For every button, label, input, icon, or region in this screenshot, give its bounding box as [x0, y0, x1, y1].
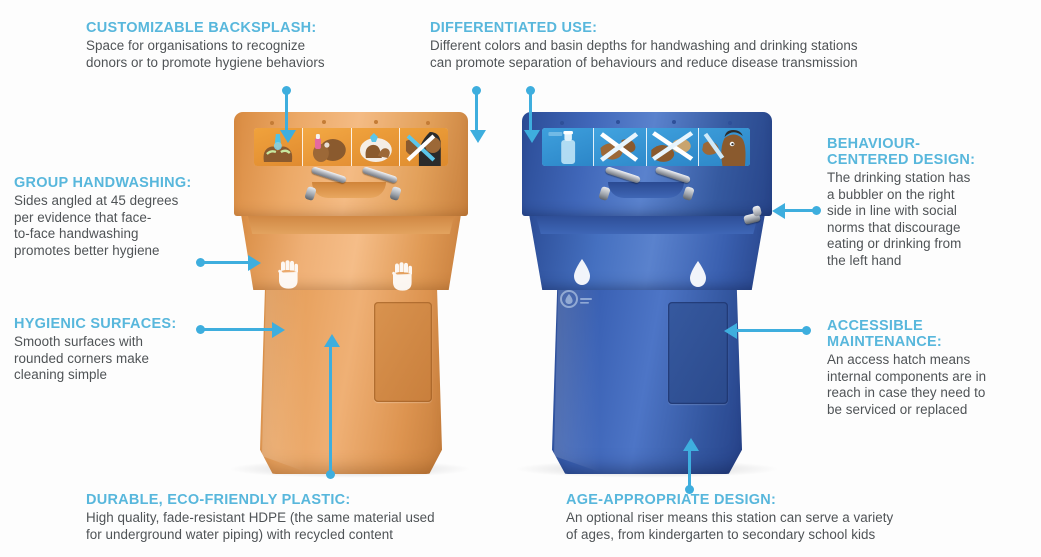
callout-title: GROUP HANDWASHING:	[14, 175, 214, 192]
callout-title: DURABLE, ECO-FRIENDLY PLASTIC:	[86, 492, 536, 509]
callout-hygienic-surfaces: HYGIENIC SURFACES: Smooth surfaces with …	[14, 316, 214, 384]
callout-title: BEHAVIOUR-	[827, 136, 1027, 153]
connector-differentiated-use-orange	[470, 86, 484, 148]
customizable-backsplash[interactable]	[542, 128, 750, 166]
callout-body: High quality, fade-resistant HDPE (the s…	[86, 510, 536, 543]
brand-logo	[560, 290, 594, 317]
callout-line: rounded corners make	[14, 351, 214, 368]
callout-accessible-maintenance: ACCESSIBLE MAINTENANCE: An access hatch …	[827, 318, 1032, 418]
callout-line: norms that discourage	[827, 220, 1027, 237]
callout-line: promotes better hygiene	[14, 243, 214, 260]
callout-line: The drinking station has	[827, 170, 1027, 187]
child-drinking-illustration	[699, 128, 750, 166]
callout-customizable-backsplash: CUSTOMIZABLE BACKSPLASH: Space for organ…	[86, 20, 386, 71]
callout-line: Different colors and basin depths for ha…	[430, 38, 960, 55]
connector-durable-plastic	[324, 333, 338, 483]
lather-illustration	[352, 128, 400, 166]
bolt-icon	[616, 120, 620, 124]
callout-body: Sides angled at 45 degrees per evidence …	[14, 193, 214, 259]
bolt-icon	[728, 121, 732, 125]
callout-line: eating or drinking from	[827, 236, 1027, 253]
callout-line: An access hatch means	[827, 352, 1032, 369]
connector-differentiated-use-blue	[524, 86, 538, 148]
bolt-icon	[322, 120, 326, 124]
body-left-facet	[262, 272, 306, 472]
callout-body: An optional riser means this station can…	[566, 510, 1026, 543]
water-droplet-icon	[572, 258, 592, 291]
callout-title-line2: CENTERED DESIGN:	[827, 152, 1027, 169]
callout-line: donors or to promote hygiene behaviors	[86, 55, 386, 72]
infographic-canvas: CUSTOMIZABLE BACKSPLASH: Space for organ…	[0, 0, 1041, 557]
hands-icon-svg	[276, 260, 300, 290]
callout-title: AGE-APPROPRIATE DESIGN:	[566, 492, 1026, 509]
callout-line: of ages, from kindergarten to secondary …	[566, 527, 1026, 544]
callout-behaviour-centered-design: BEHAVIOUR- CENTERED DESIGN: The drinking…	[827, 136, 1027, 270]
connector-customizable-backsplash	[280, 86, 294, 148]
callout-line: a bubbler on the right	[827, 187, 1027, 204]
backsplash-panel	[647, 128, 699, 166]
bolt-icon	[270, 121, 274, 125]
callout-line: reach in case they need to	[827, 385, 1032, 402]
bolt-icon	[374, 120, 378, 124]
hands-icon-svg	[390, 262, 414, 292]
bubbler[interactable]	[740, 204, 766, 228]
water-droplet-svg	[572, 258, 592, 286]
callout-line: cleaning simple	[14, 367, 214, 384]
water-droplet-icon	[688, 260, 708, 293]
water-droplet-svg	[688, 260, 708, 288]
callout-line: per evidence that face-	[14, 210, 214, 227]
callout-age-appropriate-design: AGE-APPROPRIATE DESIGN: An optional rise…	[566, 492, 1026, 543]
callout-line: High quality, fade-resistant HDPE (the s…	[86, 510, 536, 527]
callout-title: ACCESSIBLE	[827, 318, 1032, 335]
callout-body: Space for organisations to recognize don…	[86, 38, 386, 71]
hands-icon	[390, 262, 414, 297]
callout-line: to-face handwashing	[14, 226, 214, 243]
backsplash-panel	[352, 128, 401, 166]
callout-body: An access hatch means internal component…	[827, 352, 1032, 418]
no-shared-towel-illustration	[400, 128, 448, 166]
callout-durable-eco-friendly-plastic: DURABLE, ECO-FRIENDLY PLASTIC: High qual…	[86, 492, 536, 543]
callout-body: Different colors and basin depths for ha…	[430, 38, 960, 71]
brand-logo-svg	[560, 290, 594, 312]
tap-right[interactable]	[361, 174, 403, 200]
callout-line: Space for organisations to recognize	[86, 38, 386, 55]
hands-icon	[276, 260, 300, 295]
callout-line: for underground water piping) with recyc…	[86, 527, 536, 544]
no-drinking-left-hand-illustration	[594, 128, 645, 166]
tap-left[interactable]	[598, 174, 640, 200]
callout-body: The drinking station has a bubbler on th…	[827, 170, 1027, 270]
tap-left[interactable]	[304, 174, 346, 200]
backsplash-panel	[542, 128, 594, 166]
callout-title-line2: MAINTENANCE:	[827, 334, 1032, 351]
backsplash-panel	[303, 128, 352, 166]
bolt-icon	[426, 121, 430, 125]
bolt-icon	[560, 121, 564, 125]
callout-line: be serviced or replaced	[827, 402, 1032, 419]
access-hatch[interactable]	[374, 302, 432, 402]
connector-accessible-maintenance	[724, 324, 814, 338]
callout-body: Smooth surfaces with rounded corners mak…	[14, 334, 214, 384]
tap-right[interactable]	[654, 174, 696, 200]
callout-line: Sides angled at 45 degrees	[14, 193, 214, 210]
drinking-station	[508, 112, 786, 474]
backsplash-panel	[594, 128, 646, 166]
handwashing-station	[222, 112, 478, 474]
connector-behaviour-centered-design	[772, 204, 824, 218]
callout-line: the left hand	[827, 253, 1027, 270]
callout-line: internal components are in	[827, 369, 1032, 386]
callout-line: side in line with social	[827, 203, 1027, 220]
soap-illustration	[303, 128, 351, 166]
callout-title: HYGIENIC SURFACES:	[14, 316, 214, 333]
no-eating-left-hand-illustration	[647, 128, 698, 166]
access-hatch[interactable]	[668, 302, 728, 404]
callout-line: Smooth surfaces with	[14, 334, 214, 351]
bolt-icon	[672, 120, 676, 124]
connector-age-appropriate-design	[683, 437, 697, 497]
callout-group-handwashing: GROUP HANDWASHING: Sides angled at 45 de…	[14, 175, 214, 259]
callout-line: can promote separation of behaviours and…	[430, 55, 960, 72]
callout-title: DIFFERENTIATED USE:	[430, 20, 960, 37]
callout-title: CUSTOMIZABLE BACKSPLASH:	[86, 20, 386, 37]
bottle-illustration	[542, 128, 593, 166]
backsplash-panel	[699, 128, 750, 166]
backsplash-panel	[400, 128, 448, 166]
callout-line: An optional riser means this station can…	[566, 510, 1026, 527]
callout-differentiated-use: DIFFERENTIATED USE: Different colors and…	[430, 20, 960, 71]
